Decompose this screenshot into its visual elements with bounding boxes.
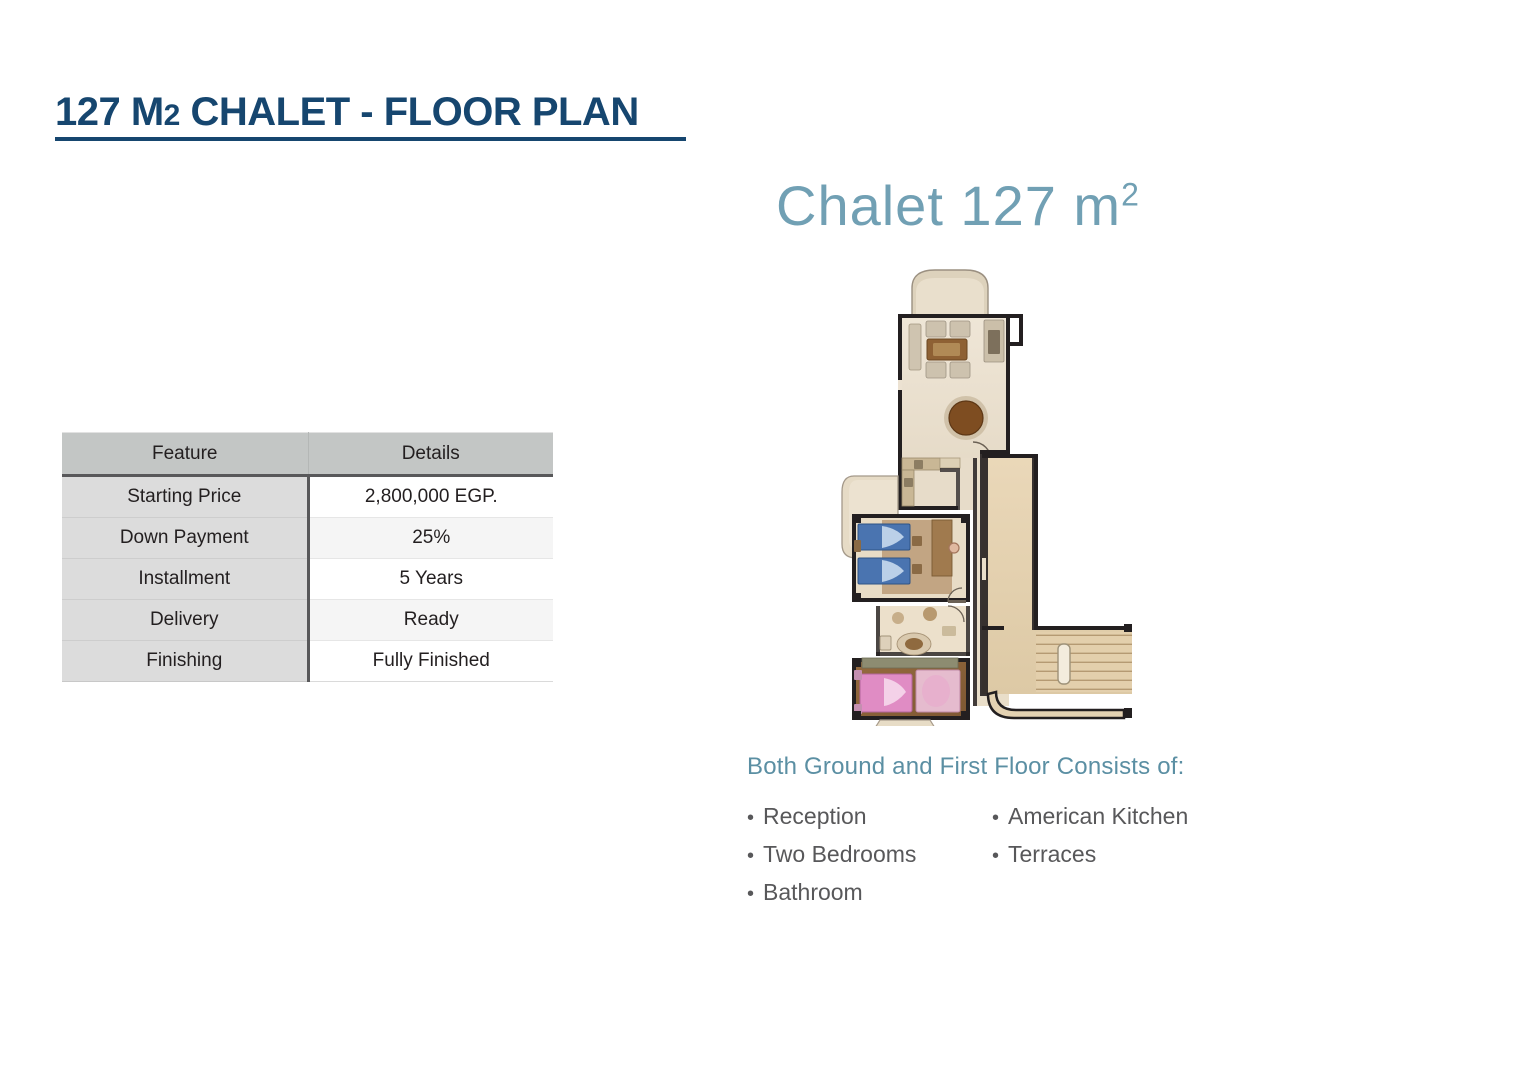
- list-item: •Bathroom: [747, 874, 916, 912]
- table-header-row: Feature Details: [62, 433, 553, 476]
- bullet-icon: •: [992, 838, 1008, 874]
- table-row: Starting Price 2,800,000 EGP.: [62, 476, 553, 518]
- list-item-label: Reception: [763, 803, 867, 829]
- dining-table: [944, 396, 988, 440]
- bedroom-twin: [852, 514, 970, 603]
- cell-feature: Delivery: [62, 600, 308, 641]
- living-sofa-group: [909, 321, 970, 378]
- bullet-icon: •: [747, 800, 763, 836]
- title-underline-rule: [55, 137, 686, 141]
- list-item: •Two Bedrooms: [747, 836, 916, 874]
- cell-feature: Installment: [62, 559, 308, 600]
- consists-of-heading: Both Ground and First Floor Consists of:: [747, 753, 1185, 781]
- table-row: Installment 5 Years: [62, 559, 553, 600]
- bullet-icon: •: [992, 800, 1008, 836]
- cell-feature: Down Payment: [62, 518, 308, 559]
- bedroom-master: [852, 658, 970, 726]
- list-item-label: Terraces: [1008, 841, 1096, 867]
- cell-details: Ready: [308, 600, 553, 641]
- top-balcony-shape: [912, 270, 988, 316]
- american-kitchen: [898, 458, 973, 510]
- main-terrace: [980, 450, 1132, 718]
- page-title: 127 M2 CHALET - FLOOR PLAN: [55, 92, 639, 132]
- bathroom: [876, 606, 970, 656]
- cell-details: 5 Years: [308, 559, 553, 600]
- list-item: •Reception: [747, 798, 916, 836]
- list-item-label: Two Bedrooms: [763, 841, 916, 867]
- cell-details: 25%: [308, 518, 553, 559]
- bullet-icon: •: [747, 876, 763, 912]
- floor-plan-image: [836, 258, 1132, 726]
- column-header-feature: Feature: [62, 433, 308, 476]
- cell-details: Fully Finished: [308, 641, 553, 682]
- cell-feature: Finishing: [62, 641, 308, 682]
- list-item-label: Bathroom: [763, 879, 863, 905]
- bullet-icon: •: [747, 838, 763, 874]
- list-item-label: American Kitchen: [1008, 803, 1188, 829]
- features-column-right: •American Kitchen •Terraces: [992, 798, 1188, 874]
- list-item: •Terraces: [992, 836, 1188, 874]
- page-title-main: 127 M: [55, 90, 164, 134]
- page-title-rest: CHALET - FLOOR PLAN: [180, 90, 639, 134]
- column-header-details: Details: [308, 433, 553, 476]
- plan-heading: Chalet 127 m2: [776, 178, 1140, 234]
- cell-details: 2,800,000 EGP.: [308, 476, 553, 518]
- table-row: Finishing Fully Finished: [62, 641, 553, 682]
- features-column-left: •Reception •Two Bedrooms •Bathroom: [747, 798, 916, 912]
- table-row: Down Payment 25%: [62, 518, 553, 559]
- specs-table: Feature Details Starting Price 2,800,000…: [62, 432, 553, 682]
- list-item: •American Kitchen: [992, 798, 1188, 836]
- cell-feature: Starting Price: [62, 476, 308, 518]
- plan-heading-text: Chalet 127 m: [776, 174, 1121, 237]
- page-title-exponent: 2: [164, 99, 180, 132]
- plan-heading-superscript: 2: [1121, 176, 1140, 212]
- tv-console: [984, 320, 1004, 362]
- table-row: Delivery Ready: [62, 600, 553, 641]
